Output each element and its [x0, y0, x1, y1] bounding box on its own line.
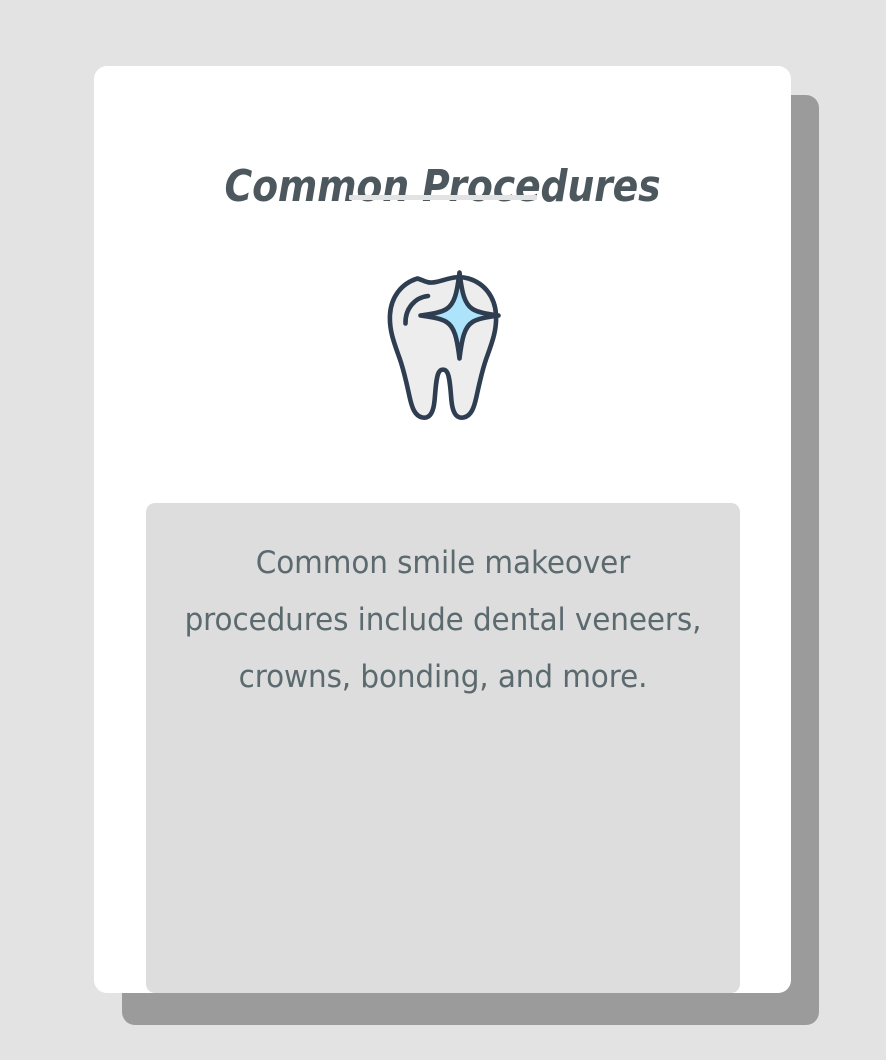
page-title: Common Procedures — [143, 165, 742, 209]
icon-container — [94, 266, 791, 426]
description-panel: Common smile makeover procedures include… — [146, 503, 740, 993]
title-divider — [349, 195, 537, 200]
sparkling-tooth-icon — [381, 266, 505, 426]
slide-canvas: Common Procedures Common smile makeover … — [0, 0, 886, 1060]
procedures-card: Common Procedures Common smile makeover … — [94, 66, 791, 993]
description-text: Common smile makeover procedures include… — [184, 535, 703, 706]
